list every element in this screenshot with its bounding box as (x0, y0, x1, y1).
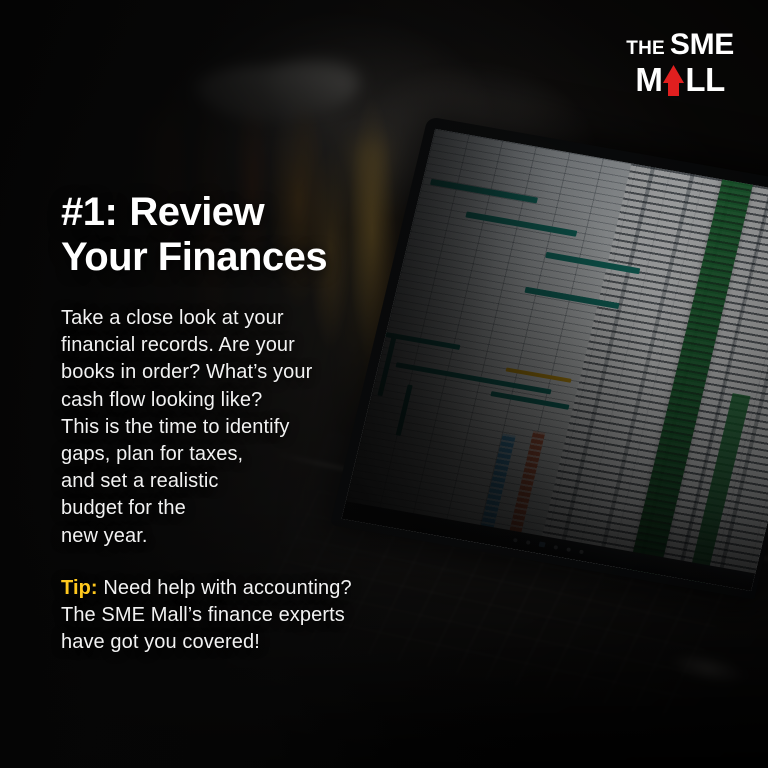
body-line-6: gaps, plan for taxes, (61, 441, 312, 468)
tip-label: Tip: (61, 577, 98, 599)
body-line-8: budget for the (61, 495, 312, 522)
taskbar-icon (513, 538, 518, 543)
body-line-7: and set a realistic (61, 468, 312, 495)
body-line-9: new year. (61, 523, 312, 550)
tip-line-2: The SME Mall’s finance experts (61, 602, 352, 629)
headline-number: #1: (61, 190, 117, 234)
body-line-5: This is the time to identify (61, 414, 312, 441)
the-sme-mall-logo[interactable]: THE SME M LL (626, 30, 734, 96)
logo-word-mall-m: M (635, 63, 662, 96)
tip-first-line: Tip: Need help with accounting? (61, 575, 352, 602)
page-title: #1:Review Your Finances (61, 190, 327, 280)
taskbar-icon (526, 540, 531, 545)
taskbar-icon (566, 547, 571, 552)
logo-word-sme: SME (670, 30, 734, 60)
logo-line-the-sme: THE SME (626, 30, 734, 60)
headline-line-2: Your Finances (61, 235, 327, 279)
body-line-2: financial records. Are your (61, 332, 312, 359)
taskbar-icon (553, 545, 558, 550)
laptop-screen-bezel (330, 116, 768, 599)
logo-word-the: THE (626, 39, 665, 58)
logo-word-mall-ll: LL (685, 63, 725, 96)
tip-line-3: have got you covered! (61, 629, 352, 656)
body-line-4: cash flow looking like? (61, 387, 312, 414)
laptop-photo (350, 110, 768, 730)
tip-block: Tip: Need help with accounting? The SME … (61, 575, 352, 657)
logo-line-mall: M LL (626, 63, 734, 96)
body-line-1: Take a close look at your (61, 305, 312, 332)
tip-line-1: Need help with accounting? (98, 577, 352, 599)
body-line-3: books in order? What’s your (61, 359, 312, 386)
taskbar-icon (538, 542, 545, 548)
headline-line-1: Review (129, 190, 264, 234)
taskbar-icon (579, 550, 584, 555)
red-arrow-icon (663, 65, 684, 96)
spreadsheet-screen (342, 129, 768, 591)
social-post-canvas: THE SME M LL #1:Review Your Finances Tak… (0, 0, 768, 768)
body-copy: Take a close look at your financial reco… (61, 305, 312, 550)
